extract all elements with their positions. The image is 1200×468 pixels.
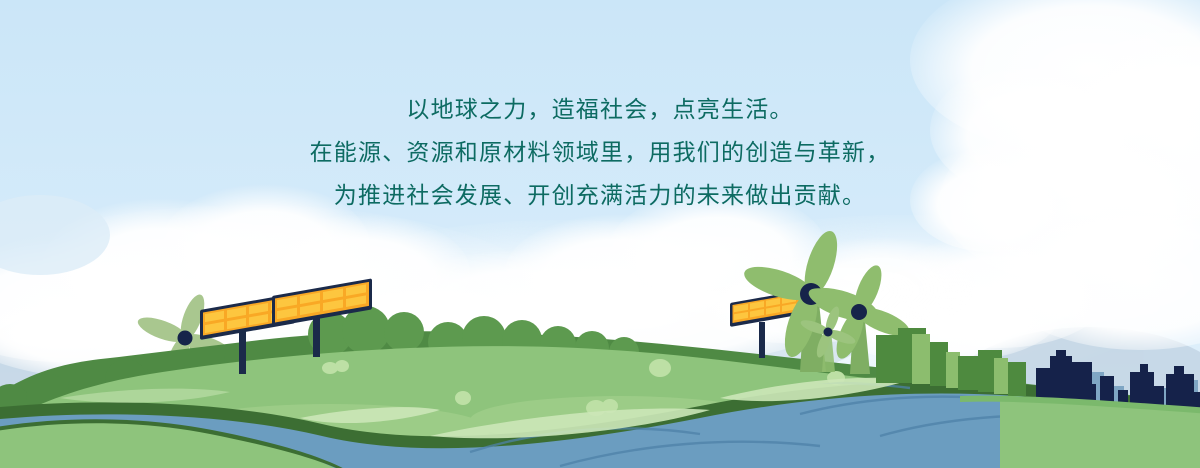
eco-banner: 以地球之力，造福社会，点亮生活。 在能源、资源和原材料领域里，用我们的创造与革新…: [0, 0, 1200, 468]
scene-illustration: [0, 0, 1200, 468]
